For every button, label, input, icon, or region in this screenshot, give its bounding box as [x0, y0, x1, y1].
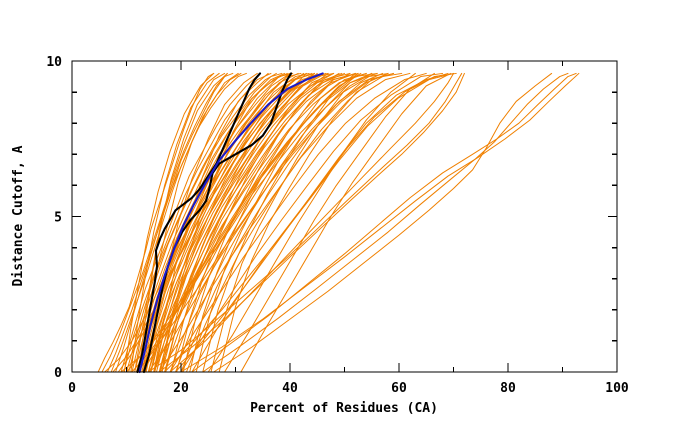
x-tick-label: 0	[68, 381, 76, 396]
y-axis-title: Distance Cutoff, A	[11, 145, 26, 286]
x-tick-label: 40	[282, 381, 298, 396]
y-tick-label: 10	[46, 55, 62, 70]
x-axis-title: Percent of Residues (CA)	[250, 401, 438, 416]
x-tick-label: 100	[605, 381, 629, 396]
x-tick-label: 80	[500, 381, 516, 396]
distance-cutoff-plot: 0204060801000510 Percent of Residues (CA…	[0, 0, 680, 440]
chart-screenshot: T0991-D1 0204060801000510 Percent of Res…	[0, 0, 680, 440]
y-tick-label: 5	[54, 211, 62, 226]
x-tick-label: 20	[173, 381, 189, 396]
y-tick-label: 0	[54, 366, 62, 381]
x-tick-label: 60	[391, 381, 407, 396]
plot-background	[0, 0, 680, 440]
